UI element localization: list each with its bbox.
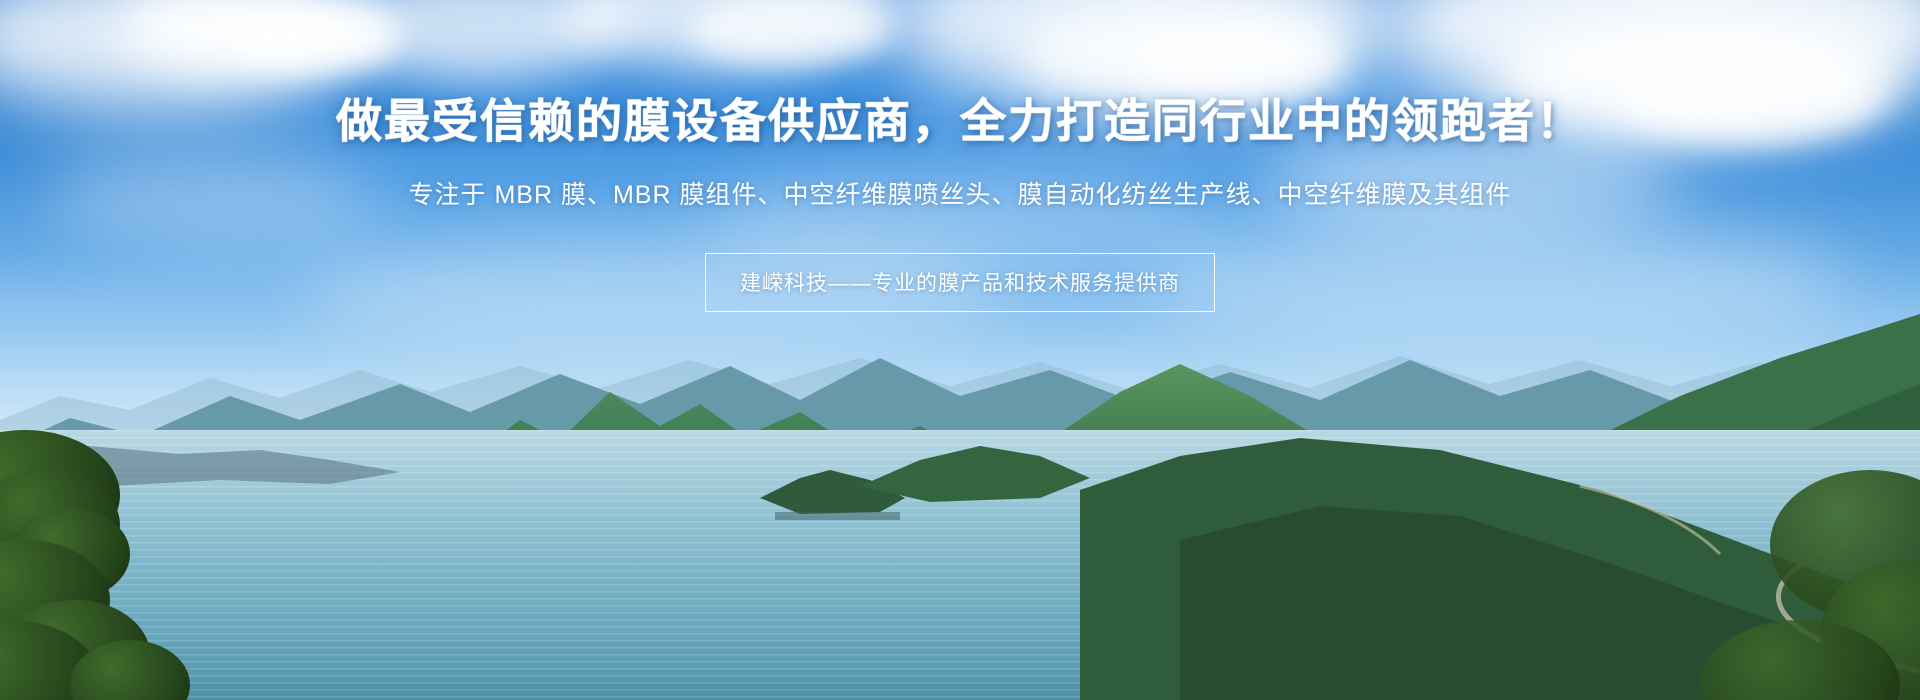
hero-banner: 做最受信赖的膜设备供应商，全力打造同行业中的领跑者！ 专注于 MBR 膜、MBR… [0,0,1920,700]
shoreline-and-islands [0,420,1920,700]
